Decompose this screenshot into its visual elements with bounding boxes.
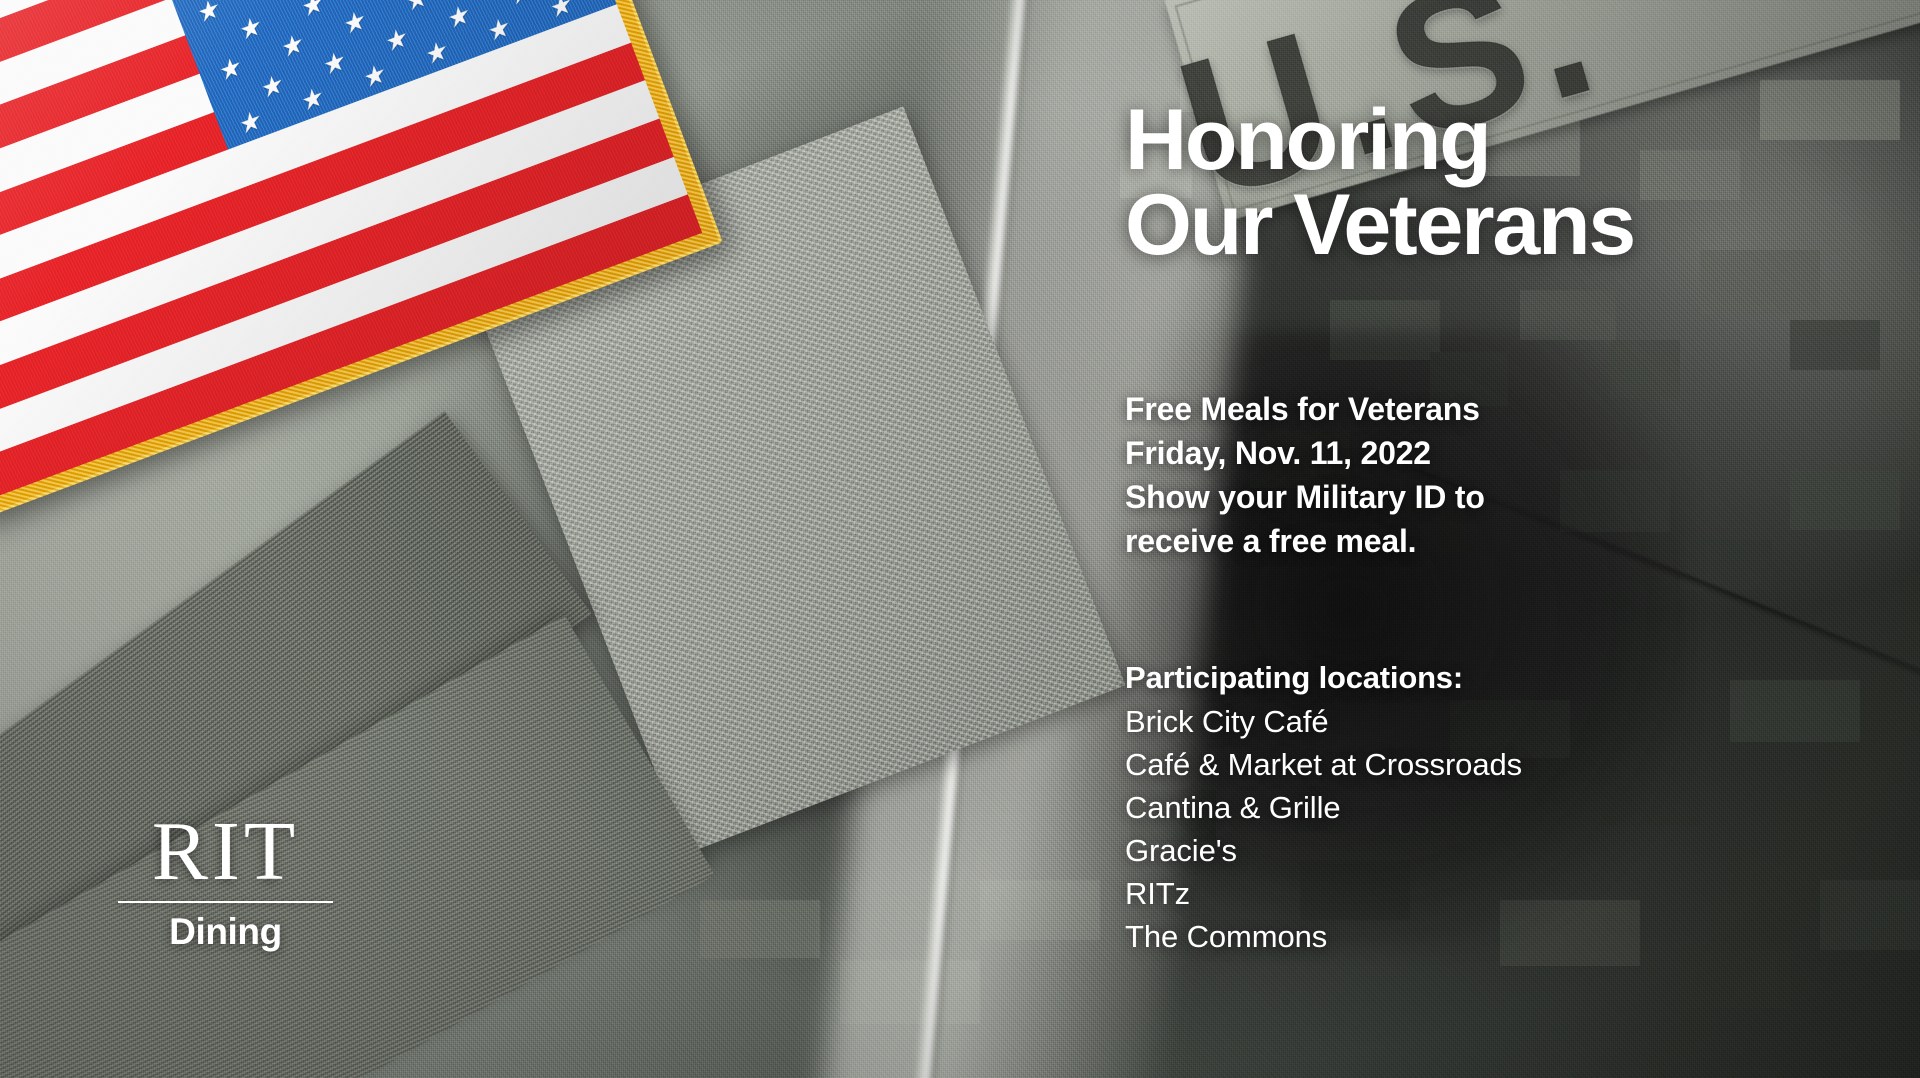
participating-locations-list: Brick City Café Café & Market at Crossro… xyxy=(1125,700,1522,958)
rit-wordmark: RIT xyxy=(118,812,333,892)
list-item: Cantina & Grille xyxy=(1125,786,1522,829)
offer-details: Free Meals for Veterans Friday, Nov. 11,… xyxy=(1125,387,1485,563)
logo-divider xyxy=(118,901,333,903)
veterans-day-poster: U.S. ★★★★★★ ★★★★★ ★★★★★★ xyxy=(0,0,1920,1078)
participating-locations-heading: Participating locations: xyxy=(1125,658,1463,698)
page-title: Honoring Our Veterans xyxy=(1125,98,1634,268)
list-item: RITz xyxy=(1125,872,1522,915)
list-item: The Commons xyxy=(1125,915,1522,958)
list-item: Café & Market at Crossroads xyxy=(1125,743,1522,786)
logo-subbrand: Dining xyxy=(118,913,333,950)
list-item: Brick City Café xyxy=(1125,700,1522,743)
list-item: Gracie's xyxy=(1125,829,1522,872)
rit-dining-logo: RIT Dining xyxy=(118,812,333,950)
